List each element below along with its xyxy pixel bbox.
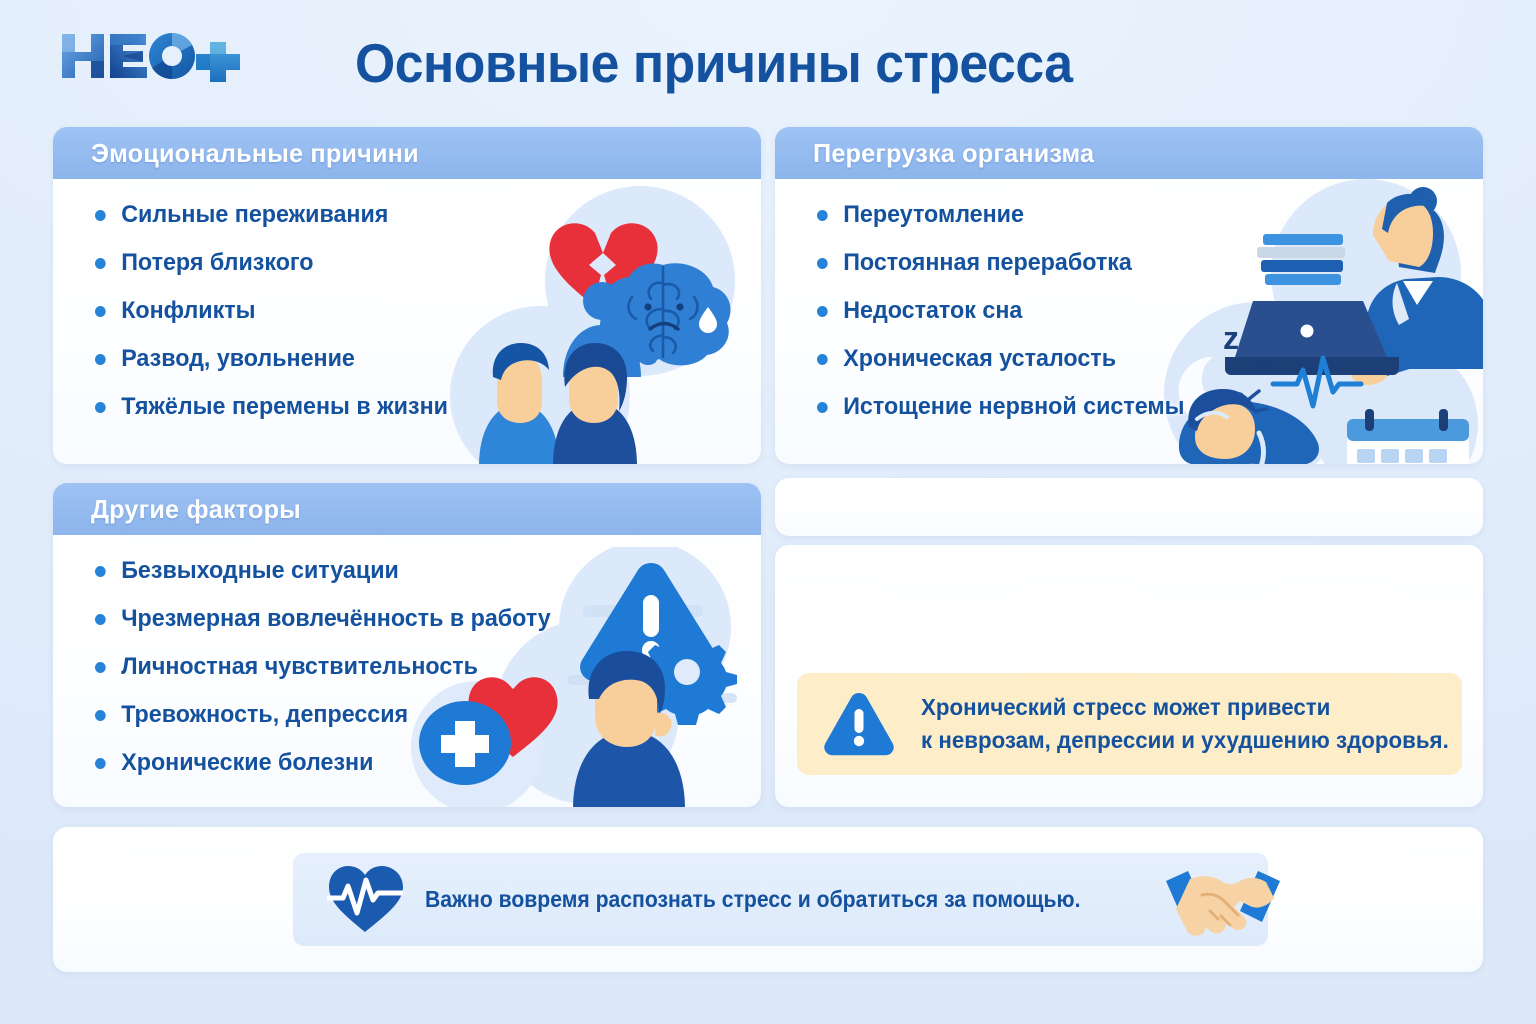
brand-logo xyxy=(60,28,255,90)
list-item: Личностная чувствительность xyxy=(95,655,741,679)
list-item-label: Развод, увольнение xyxy=(121,347,355,371)
bullet-dot-icon xyxy=(95,566,106,577)
list-item-label: Потеря близкого xyxy=(121,251,313,275)
bullet-dot-icon xyxy=(817,306,828,317)
card-other-factors: Другие факторы xyxy=(53,483,761,807)
heart-pulse-icon xyxy=(327,864,403,936)
list-item: Безвыходные ситуации xyxy=(95,559,741,583)
bullet-dot-icon xyxy=(95,258,106,269)
emotional-causes-list: Сильные переживания Потеря близкого Конф… xyxy=(53,179,761,419)
warning-line-1: Хронический стресс может привести xyxy=(921,691,1449,724)
list-item-label: Чрезмерная вовлечённость в работу xyxy=(121,607,551,631)
list-item: Тяжёлые перемены в жизни xyxy=(95,395,741,419)
bullet-dot-icon xyxy=(95,306,106,317)
warning-triangle-icon xyxy=(823,691,895,757)
list-item: Недостаток сна xyxy=(817,299,1463,323)
bullet-dot-icon xyxy=(95,758,106,769)
list-item-label: Постоянная переработка xyxy=(843,251,1132,275)
card-emotional-causes: Эмоциональные причини xyxy=(53,127,761,464)
list-item-label: Сильные переживания xyxy=(121,203,388,227)
card-overload-title: Перегрузка организма xyxy=(813,138,1094,169)
card-other-title: Другие факторы xyxy=(91,494,301,525)
handshake-icon xyxy=(1160,861,1286,939)
card-spacer-blank xyxy=(775,478,1483,536)
list-item: Переутомление xyxy=(817,203,1463,227)
bullet-dot-icon xyxy=(95,662,106,673)
bullet-dot-icon xyxy=(95,210,106,221)
list-item-label: Переутомление xyxy=(843,203,1024,227)
list-item-label: Безвыходные ситуации xyxy=(121,559,399,583)
bullet-dot-icon xyxy=(95,354,106,365)
bullet-dot-icon xyxy=(817,354,828,365)
list-item-label: Хроническая усталость xyxy=(843,347,1116,371)
list-item-label: Тревожность, депрессия xyxy=(121,703,408,727)
list-item-label: Тяжёлые перемены в жизни xyxy=(121,395,448,419)
card-other-header: Другие факторы xyxy=(53,483,761,535)
page-title: Основные причины стресса xyxy=(355,28,1107,98)
warning-text: Хронический стресс может привести к невр… xyxy=(921,691,1449,758)
list-item: Тревожность, депрессия xyxy=(95,703,741,727)
list-item: Сильные переживания xyxy=(95,203,741,227)
list-item: Постоянная переработка xyxy=(817,251,1463,275)
logo-mark xyxy=(60,28,255,90)
card-overload-header: Перегрузка организма xyxy=(775,127,1483,179)
list-item: Потеря близкого xyxy=(95,251,741,275)
overload-causes-list: Переутомление Постоянная переработка Нед… xyxy=(775,179,1483,419)
card-other-body: Безвыходные ситуации Чрезмерная вовлечён… xyxy=(53,535,761,807)
bullet-dot-icon xyxy=(817,402,828,413)
bullet-dot-icon xyxy=(817,258,828,269)
card-emotional-header: Эмоциональные причини xyxy=(53,127,761,179)
list-item: Хронические болезни xyxy=(95,751,741,775)
bullet-dot-icon xyxy=(95,402,106,413)
list-item-label: Недостаток сна xyxy=(843,299,1022,323)
bullet-dot-icon xyxy=(817,210,828,221)
list-item: Конфликты xyxy=(95,299,741,323)
list-item-label: Хронические болезни xyxy=(121,751,373,775)
card-body-overload: Перегрузка организма xyxy=(775,127,1483,464)
card-overload-body: z z xyxy=(775,179,1483,464)
other-factors-list: Безвыходные ситуации Чрезмерная вовлечён… xyxy=(53,535,761,775)
footer-banner: Важно вовремя распознать стресс и обрати… xyxy=(293,853,1268,946)
list-item: Чрезмерная вовлечённость в работу xyxy=(95,607,741,631)
card-emotional-body: Сильные переживания Потеря близкого Конф… xyxy=(53,179,761,464)
list-item-label: Конфликты xyxy=(121,299,255,323)
list-item-label: Истощение нервной системы xyxy=(843,395,1184,419)
list-item-label: Личностная чувствительность xyxy=(121,655,478,679)
chronic-stress-warning-callout: Хронический стресс может привести к невр… xyxy=(797,673,1462,775)
card-warning-host: Хронический стресс может привести к невр… xyxy=(775,545,1483,807)
card-footer: Важно вовремя распознать стресс и обрати… xyxy=(53,827,1483,972)
footer-text: Важно вовремя распознать стресс и обрати… xyxy=(425,886,1081,913)
warning-line-2: к неврозам, депрессии и ухудшению здоров… xyxy=(921,724,1449,757)
bullet-dot-icon xyxy=(95,614,106,625)
list-item: Хроническая усталость xyxy=(817,347,1463,371)
card-emotional-title: Эмоциональные причини xyxy=(91,138,419,169)
list-item: Развод, увольнение xyxy=(95,347,741,371)
list-item: Истощение нервной системы xyxy=(817,395,1463,419)
bullet-dot-icon xyxy=(95,710,106,721)
